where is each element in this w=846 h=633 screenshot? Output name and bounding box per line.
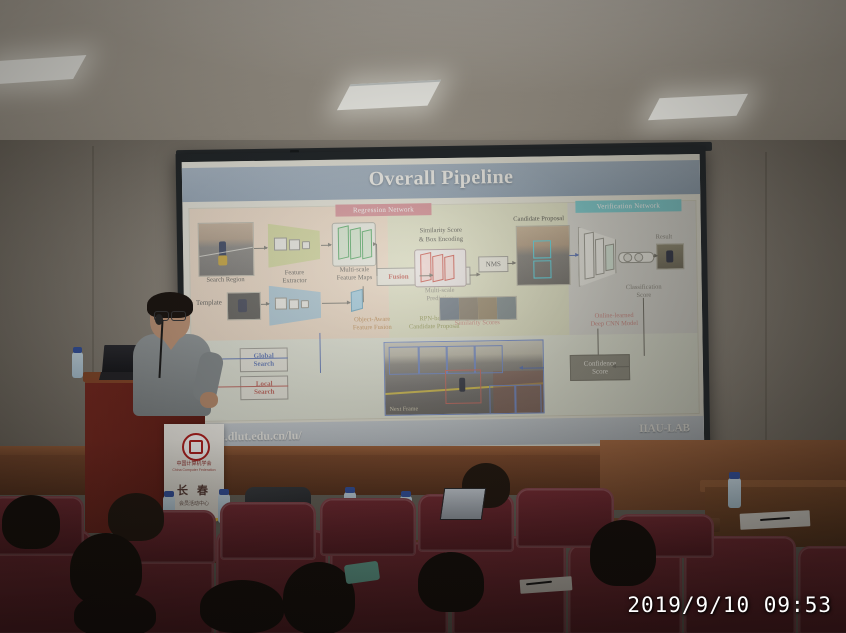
arrow-nms-to-candidate	[507, 263, 515, 264]
table-bottle-cap	[729, 472, 740, 479]
ssbe-label-line2: & Box Encoding	[402, 235, 480, 244]
local-search-line2: Search	[254, 388, 275, 397]
audience-head-9	[200, 580, 284, 633]
audience-laptop	[440, 488, 486, 520]
arrow-fc-to-result	[653, 256, 657, 257]
confidence-score-box: Confidence Score	[570, 354, 630, 381]
conv-block-a3	[302, 241, 310, 249]
similarity-scores-strip	[439, 296, 517, 321]
audience-head-1	[2, 495, 60, 549]
search-region-label: Search Region	[192, 276, 258, 285]
microphone-head	[155, 314, 163, 325]
search-region-thumbnail	[198, 222, 255, 277]
object-aware-fusion-plane	[351, 289, 363, 312]
slide-footer-lab: IIAU-LAB	[639, 422, 690, 435]
conv-block-b3	[301, 300, 309, 308]
fc-node-2	[634, 253, 643, 262]
audience-head-8	[418, 552, 484, 612]
projection-screen-frame: Overall Pipeline Regression Network Veri…	[176, 146, 711, 469]
verification-network-header: Verification Network	[575, 199, 681, 213]
prediction-plane-2	[432, 254, 443, 283]
seat-row1-8	[798, 546, 846, 633]
verif-layer-2	[595, 238, 605, 276]
prediction-plane-1	[420, 252, 431, 283]
arrow-candidate-to-verification	[569, 255, 578, 256]
projection-screen: Overall Pipeline Regression Network Veri…	[182, 154, 705, 458]
seat-row2-4	[320, 498, 416, 556]
ssbe-label-line1: Similarity Score	[402, 226, 480, 235]
verif-layer-3	[605, 244, 614, 272]
local-search-box: Local Search	[240, 375, 288, 400]
conv-block-b1	[275, 297, 287, 309]
candidate-proposal-thumbnail	[516, 225, 571, 286]
arrow-template-to-extractor	[261, 304, 269, 305]
confidence-score-line2: Score	[592, 367, 608, 376]
candidate-proposal-label: Candidate Proposal	[506, 215, 572, 224]
seat-row2-3	[220, 502, 316, 560]
verif-layer-1	[584, 232, 595, 280]
conv-block-a1	[274, 237, 287, 250]
banner-org-en: China Computer Federation	[164, 468, 224, 472]
table-water-bottle	[728, 478, 741, 508]
audience-bottle-2-cap	[219, 489, 229, 495]
audience-bottle-3-cap	[345, 487, 355, 493]
regression-network-header: Regression Network	[335, 203, 431, 217]
feature-map-plane-1	[338, 225, 349, 260]
arrow-fusion-to-rpn	[419, 275, 432, 276]
template-thumbnail	[227, 292, 261, 321]
nms-box: NMS	[478, 256, 508, 272]
next-frame-caption: Next Frame	[390, 406, 419, 412]
similarity-scores-label: Similarity Scores	[439, 319, 515, 328]
msfm-label-line2: Feature Maps	[326, 274, 382, 283]
template-label: Template	[191, 298, 227, 307]
ceiling-shading	[0, 0, 846, 152]
fc-node-1	[623, 253, 632, 262]
audience-bottle-1-cap	[164, 491, 174, 497]
camera-timestamp: 2019/9/10 09:53	[627, 593, 832, 617]
feature-map-plane-2	[350, 227, 361, 260]
feature-map-plane-3	[362, 229, 372, 259]
arrow-extractor-to-maps	[321, 245, 331, 246]
conv-block-a2	[289, 239, 300, 250]
prediction-plane-3	[444, 255, 454, 281]
banner-org-cn: 中国计算机学会	[164, 460, 224, 467]
presentation-slide: Overall Pipeline Regression Network Veri…	[182, 154, 705, 458]
arrow-rpn-to-pred	[469, 274, 479, 275]
audience-head-7	[590, 520, 656, 586]
podium-water-bottle	[72, 352, 83, 378]
global-search-line2: Search	[254, 360, 275, 369]
audience-bottle-4-cap	[401, 491, 411, 497]
conv-block-b2	[289, 299, 299, 309]
speaker-hand	[200, 392, 218, 408]
result-thumbnail	[656, 243, 684, 269]
feature-extractor-label-line2: Extractor	[267, 277, 323, 286]
global-search-box: Global Search	[240, 347, 288, 372]
ceiling-light-2	[337, 80, 441, 111]
online-model-line2: Deep CNN Model	[571, 320, 657, 329]
audience-head-4	[74, 592, 156, 633]
arrow-search-to-extractor	[254, 248, 267, 249]
podium-bottle-cap	[73, 347, 82, 353]
next-frame-thumbnail: Next Frame	[384, 339, 545, 416]
result-label: Result	[642, 233, 686, 242]
lecture-hall-photo: Overall Pipeline Regression Network Veri…	[0, 0, 846, 633]
ccf-logo-icon	[182, 433, 210, 461]
pipeline-diagram: Regression Network Verification Network …	[188, 200, 699, 422]
